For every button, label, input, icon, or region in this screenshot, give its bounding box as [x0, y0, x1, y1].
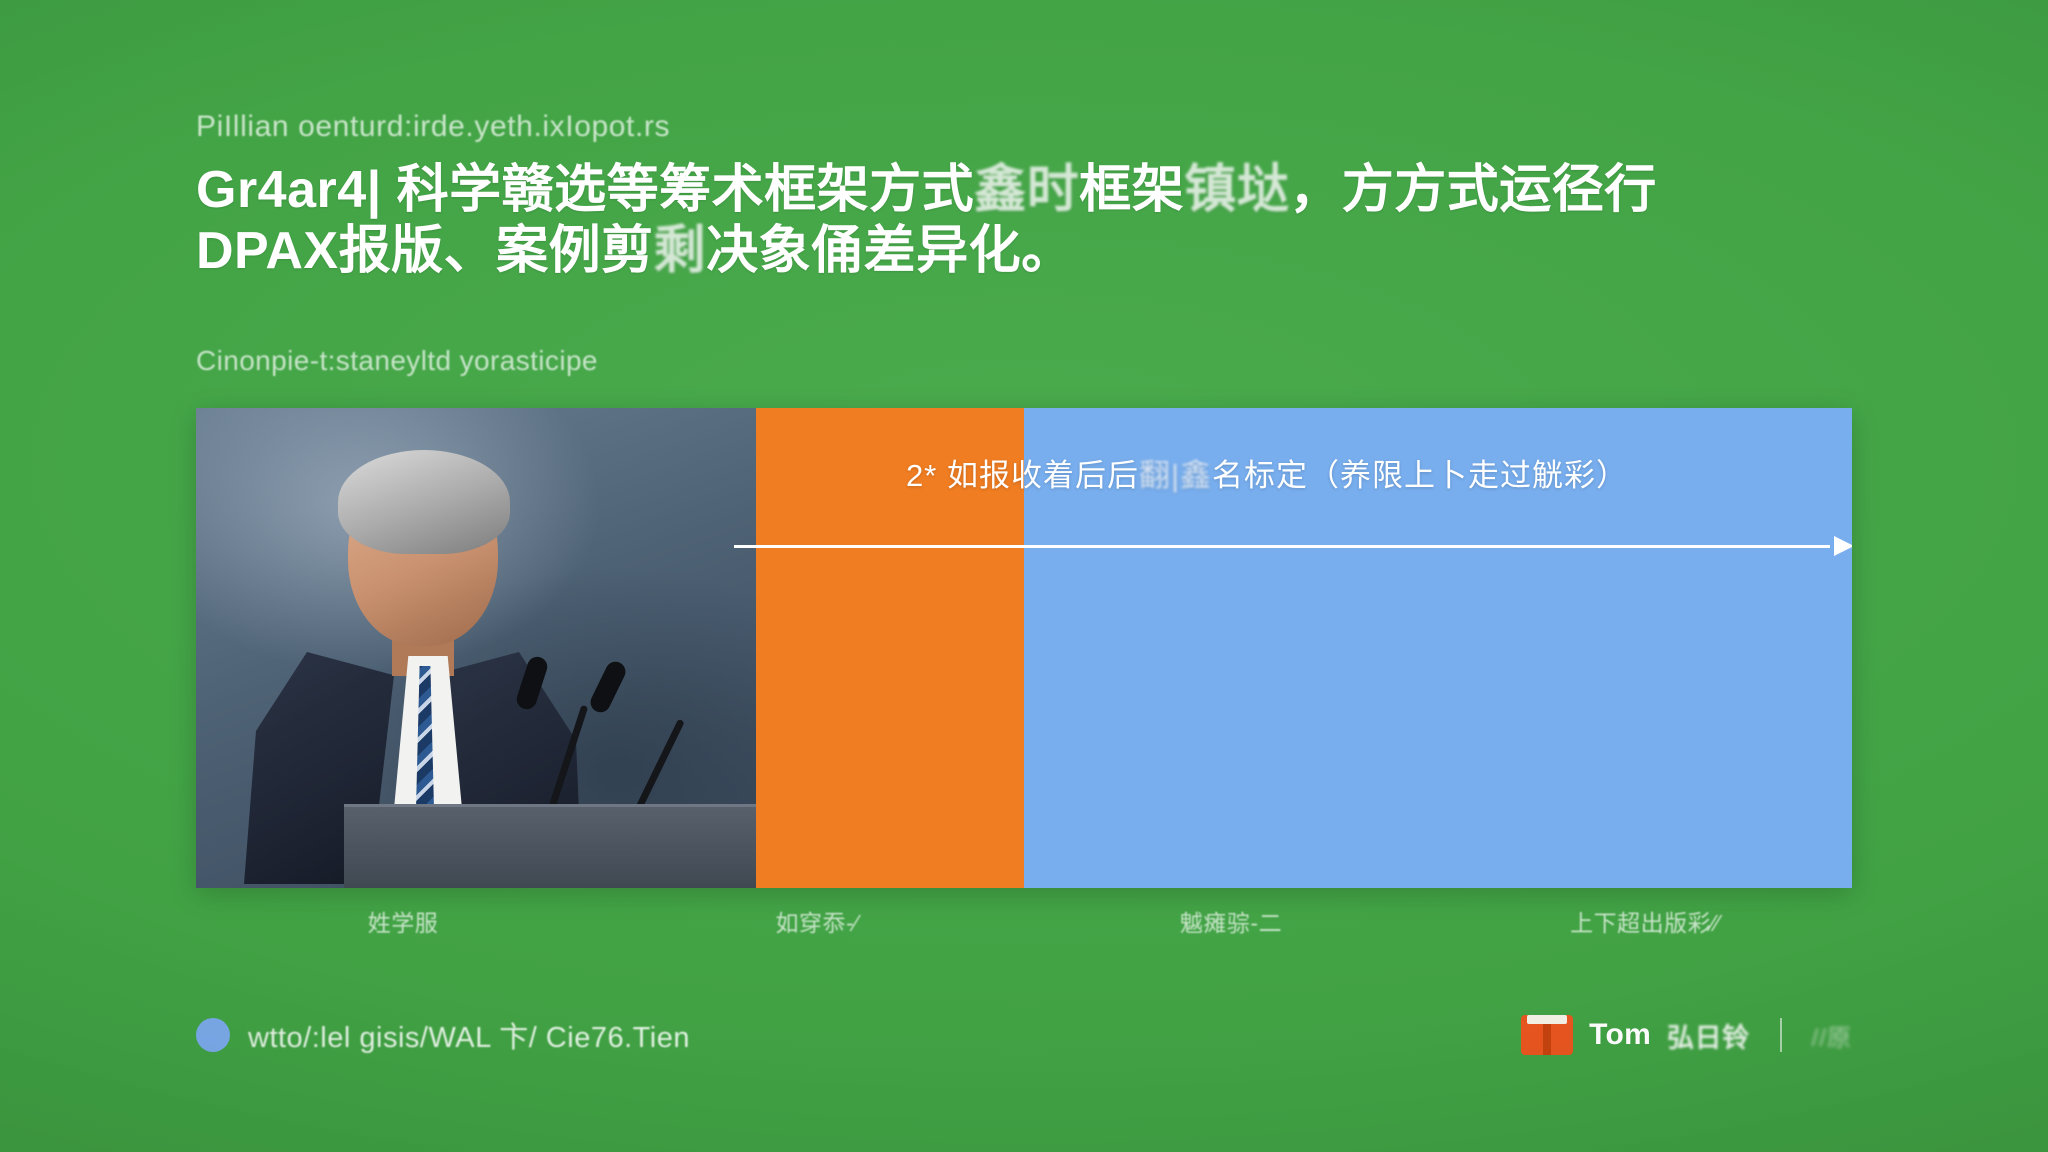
category-label-row: 姓学服 如穿忝-⁄ 魆瘫骔-二 上下超出版彩⁄⁄	[196, 904, 1852, 938]
hair-shape	[338, 450, 510, 554]
category-label-1: 姓学服	[196, 904, 610, 938]
category-label-3: 魆瘫骔-二	[1024, 904, 1438, 938]
panel-note-number: 2	[906, 458, 924, 493]
arrow-head	[1834, 536, 1852, 556]
eyebrow-text: PiIllian oenturd:irde.yeth.ixIopot.rs	[196, 110, 670, 144]
headline-line2-part-a: DPAX报版、案例剪	[196, 222, 654, 280]
content-panel: 2* 如报收着后后翻|鑫名标定（养限上卜走过觥彩）	[196, 408, 1852, 888]
brand-lockup: Tom 弘日铃 //原	[1521, 1015, 1852, 1055]
panel-note-asterisk: *	[924, 458, 937, 493]
brand-subtitle: 弘日铃	[1667, 1016, 1750, 1055]
panel-note-smear: 翻|鑫	[1139, 458, 1212, 493]
page-title: Gr4ar4| 科学赣选等筹术框架方式鑫时框架镇垯，方方式运径行 DPAX报版、…	[196, 160, 1856, 283]
legend-dot-icon	[196, 1018, 230, 1052]
headline-line2-smear: 剩	[654, 222, 707, 280]
headline-line1-smear: 鑫时	[974, 161, 1079, 219]
brand-logo-icon	[1521, 1015, 1573, 1055]
panel-note-part-c: 名标定（养限上卜走过觥彩）	[1212, 458, 1628, 493]
panel-note-part-b: 如报收着后后	[947, 458, 1139, 493]
category-label-4: 上下超出版彩⁄⁄	[1438, 904, 1852, 938]
panel-annotation: 2* 如报收着后后翻|鑫名标定（养限上卜走过觥彩）	[906, 450, 1852, 495]
headline-line2-part-b: 决象俑差异化。	[706, 222, 1074, 280]
headline-line1-part-c: ，方方式运径行	[1289, 161, 1657, 219]
speaker-photo	[196, 408, 756, 888]
slide-content: PiIllian oenturd:irde.yeth.ixIopot.rs Gr…	[196, 0, 1852, 1152]
headline-line1-part-a: Gr4ar4| 科学赣选等筹术框架方式	[196, 161, 974, 219]
brand-tail-text: //原	[1812, 1018, 1852, 1053]
subtitle-text: Cinonpie-t:staneyltd yorasticipe	[196, 345, 598, 377]
legend: wtto/:lel gisis/WAL 卞/ Cie76.Tien	[196, 1014, 690, 1056]
panel-left-orange	[196, 408, 1024, 888]
brand-name: Tom	[1589, 1018, 1651, 1052]
slide-footer: wtto/:lel gisis/WAL 卞/ Cie76.Tien Tom 弘日…	[196, 1000, 1852, 1070]
legend-label: wtto/:lel gisis/WAL 卞/ Cie76.Tien	[248, 1014, 690, 1056]
slide-root: PiIllian oenturd:irde.yeth.ixIopot.rs Gr…	[0, 0, 2048, 1152]
arrow-line	[734, 545, 1830, 548]
category-label-2: 如穿忝-⁄	[610, 904, 1024, 938]
headline-line1-part-b: 框架	[1079, 161, 1184, 219]
panel-right-blue: 2* 如报收着后后翻|鑫名标定（养限上卜走过觥彩）	[1024, 408, 1852, 888]
podium-shape	[344, 804, 756, 888]
brand-divider	[1780, 1018, 1782, 1052]
arrow-right-icon	[734, 536, 1852, 556]
headline-line1-smear-2: 镇垯	[1184, 161, 1289, 219]
